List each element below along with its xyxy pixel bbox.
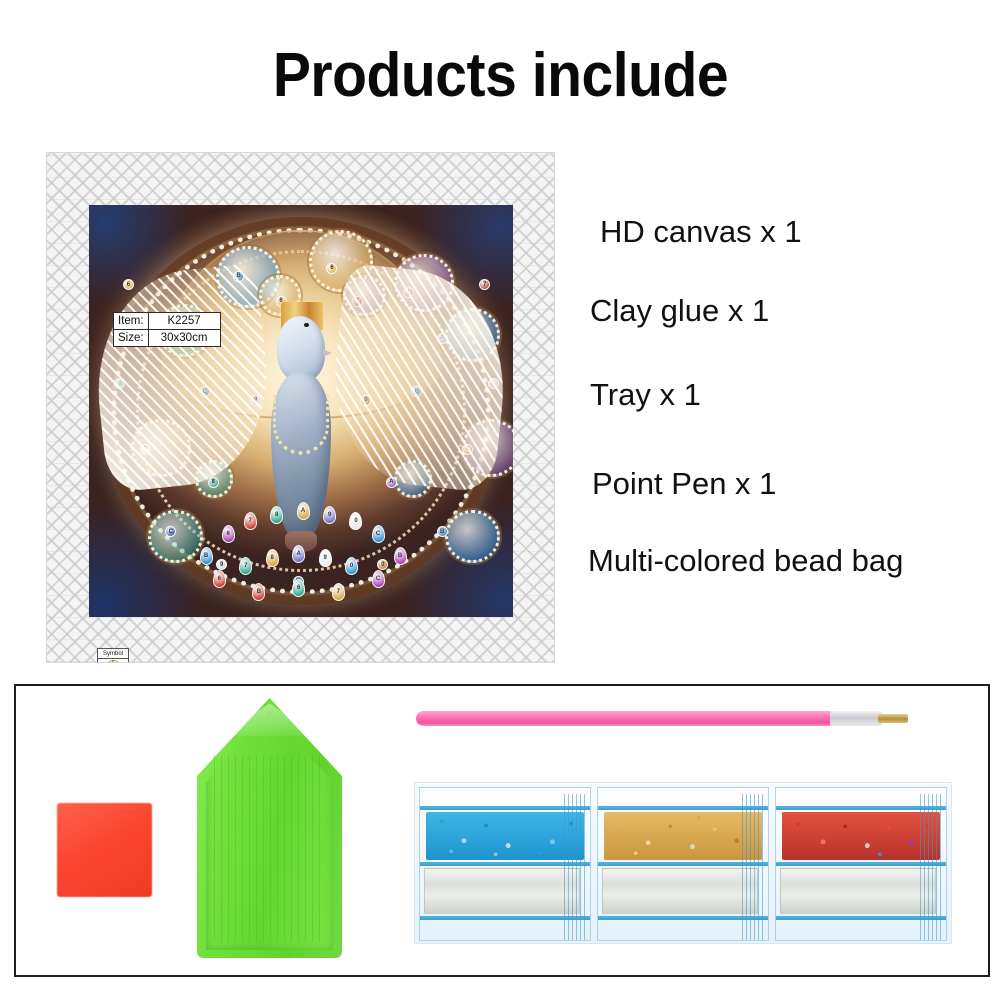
include-item-tray: Tray x 1 [590,379,701,410]
artwork-gem-marker: 8 [208,477,219,488]
tail-gem: B [394,547,407,565]
spec-row-size: Size: 30x30cm [114,330,221,347]
accessories-panel [14,684,990,977]
dove-beak [323,349,332,357]
page-title: Products include [40,40,961,111]
tail-gem: 6 [292,579,305,597]
dove-eye [304,323,309,328]
point-pen [416,706,908,732]
symbol-legend-left: Symbol 12345678AB [97,648,129,663]
spec-row-item: Item: K2257 [114,313,221,330]
tail-gem: 9 [323,506,336,524]
bead-bag-gold [597,787,769,941]
tail-gem: 8 [266,549,279,567]
artwork-gem-marker: 6 [123,279,134,290]
bead-field-red [782,812,940,860]
canvas-spec-table: Item: K2257 Size: 30x30cm [113,312,221,347]
tail-gem: 7 [239,557,252,575]
tail-gem: C [372,525,385,543]
bag-foil-label [602,868,758,914]
bag-crinkle [742,794,766,940]
include-item-hd-canvas: HD canvas x 1 [600,216,802,247]
tail-gem: 7 [332,583,345,601]
bead-field-blue [426,812,584,860]
spec-item-value: K2257 [148,313,220,330]
tail-gem: B [252,583,265,601]
canvas-artwork: B678A90CB678A90CB678A90CB B678A90CB678A9… [89,205,513,617]
include-item-point-pen: Point Pen x 1 [592,468,776,499]
pen-ferrule [830,711,882,726]
tail-gem: A [292,545,305,563]
tail-gem: A [297,502,310,520]
bag-crinkle [564,794,588,940]
bead-bag-red [775,787,947,941]
spec-size-value: 30x30cm [148,330,220,347]
tail-gem: 6 [222,525,235,543]
symbol-marker-1: 1 [107,660,120,664]
bag-foil-label [780,868,936,914]
bead-tray [197,698,342,958]
tail-gem: C [372,570,385,588]
pen-barrel [416,711,836,726]
clay-glue-square [57,803,152,897]
tail-gem: B [200,547,213,565]
symbol-legend-header: Symbol [98,649,128,659]
tail-gem: 7 [244,512,257,530]
include-item-bead-bag: Multi-colored bead bag [588,545,903,576]
tray-grooves [214,755,324,942]
artwork-gem-marker: B [437,526,448,537]
gem-tail-fan: B678A90CB678A90CB67 [191,502,411,609]
include-item-clay-glue: Clay glue x 1 [590,295,769,326]
pen-metal-tip [878,714,908,723]
bead-bag-strip [414,782,952,944]
tail-gem: 8 [270,506,283,524]
bead-bag-blue [419,787,591,941]
spec-size-label: Size: [114,330,149,347]
dove-necklace [273,395,330,455]
tail-gem: 0 [349,512,362,530]
hd-canvas-product: B678A90CB678A90CB678A90CB B678A90CB678A9… [46,152,555,663]
bag-crinkle [920,794,944,940]
tail-gem: 9 [319,549,332,567]
bead-field-gold [604,812,762,860]
bag-foil-label [424,868,580,914]
tail-gem: 6 [213,570,226,588]
symbol-legend-row: 1 [98,659,128,663]
tail-gem: 0 [345,557,358,575]
spec-item-label: Item: [114,313,149,330]
